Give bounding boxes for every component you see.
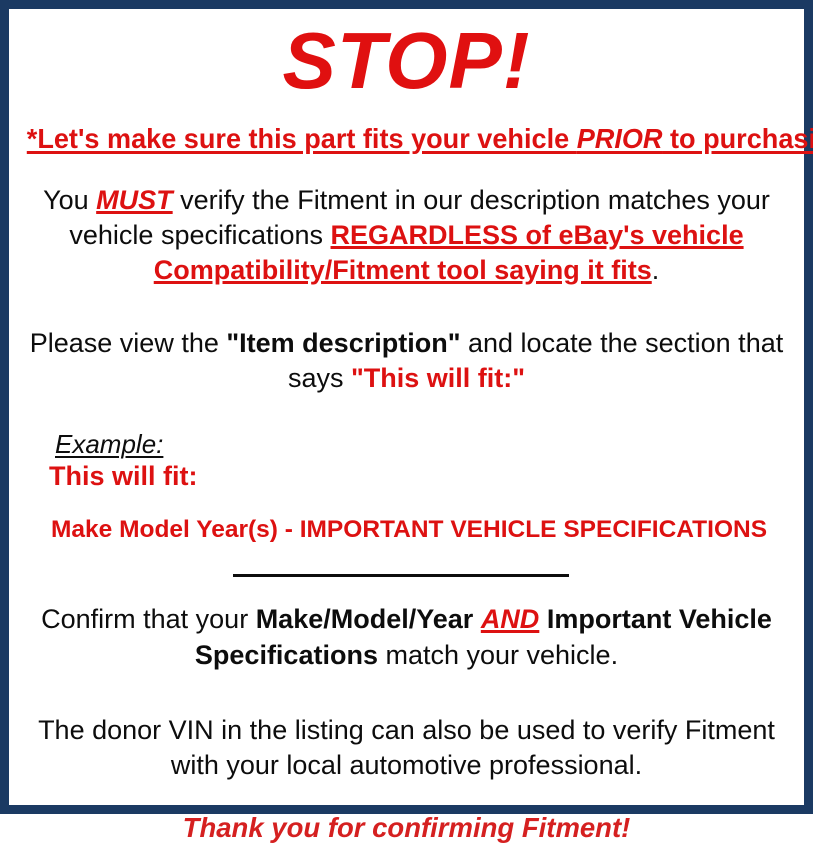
example-label: Example: [55, 430, 163, 459]
divider-wrap [21, 570, 792, 582]
closing-thank-you: Thank you for confirming Fitment! [21, 811, 792, 844]
example-block: Example: This will fit: Make Model Year(… [21, 430, 792, 544]
example-spec-line: Make Model Year(s) - IMPORTANT VEHICLE S… [51, 516, 792, 544]
section-divider [233, 574, 569, 577]
p2-emphasis-item-description: "Item description" [226, 328, 460, 358]
p1-part-1: You [43, 185, 96, 215]
subtitle-emphasis-prior: PRIOR [577, 123, 663, 154]
example-fit-line: This will fit: [49, 461, 792, 492]
p1-emphasis-must: MUST [96, 185, 173, 215]
fitment-subtitle: *Let's make sure this part fits your veh… [27, 123, 786, 155]
subtitle-prefix: *Let's make sure this part fits your veh… [27, 123, 577, 154]
paragraph-verify-fitment: You MUST verify the Fitment in our descr… [21, 183, 792, 288]
p3-part-1: Confirm that your [41, 604, 256, 634]
p3-part-2: match your vehicle. [378, 640, 618, 670]
p2-emphasis-this-will-fit: "This will fit:" [351, 363, 525, 393]
p3-emphasis-and: AND [481, 604, 540, 634]
fitment-notice-card: STOP! *Let's make sure this part fits yo… [0, 0, 813, 814]
p1-part-3: . [652, 255, 660, 285]
paragraph-donor-vin: The donor VIN in the listing can also be… [21, 713, 792, 783]
stop-heading: STOP! [21, 21, 792, 101]
paragraph-item-description: Please view the "Item description" and l… [21, 326, 792, 396]
subtitle-suffix: to purchasing* [662, 123, 813, 154]
p2-part-1: Please view the [30, 328, 227, 358]
p3-emphasis-make-model-year: Make/Model/Year [256, 604, 474, 634]
paragraph-confirm-match: Confirm that your Make/Model/Year AND Im… [21, 602, 792, 672]
